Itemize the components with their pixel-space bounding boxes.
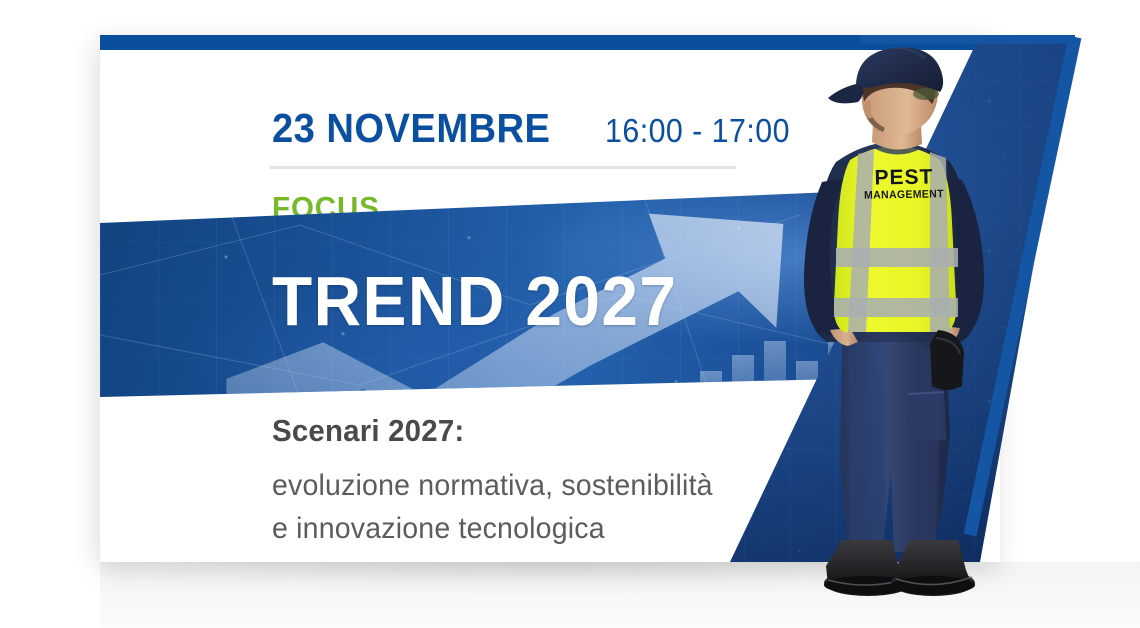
event-date: 23 NOVEMBRE	[272, 105, 550, 152]
banner-title: TREND 2027	[272, 261, 677, 341]
subtitle-heading: Scenari 2027:	[272, 413, 804, 449]
subtitle-line-1: evoluzione normativa, sostenibilità	[272, 465, 804, 508]
header-divider	[270, 166, 736, 169]
date-time-row: 23 NOVEMBRE 16:00 - 17:00	[272, 105, 806, 152]
event-time: 16:00 - 17:00	[605, 112, 790, 150]
ground-plane-left-cap	[0, 562, 100, 628]
subtitle-block: Scenari 2027: evoluzione normativa, sost…	[272, 413, 832, 550]
promo-banner-stage: 23 NOVEMBRE 16:00 - 17:00 FOCUS	[0, 0, 1140, 628]
subtitle-line-2: e innovazione tecnologica	[272, 508, 804, 551]
safety-vest	[834, 142, 958, 332]
worker-figure: PEST MANAGEMENT	[770, 42, 1020, 608]
